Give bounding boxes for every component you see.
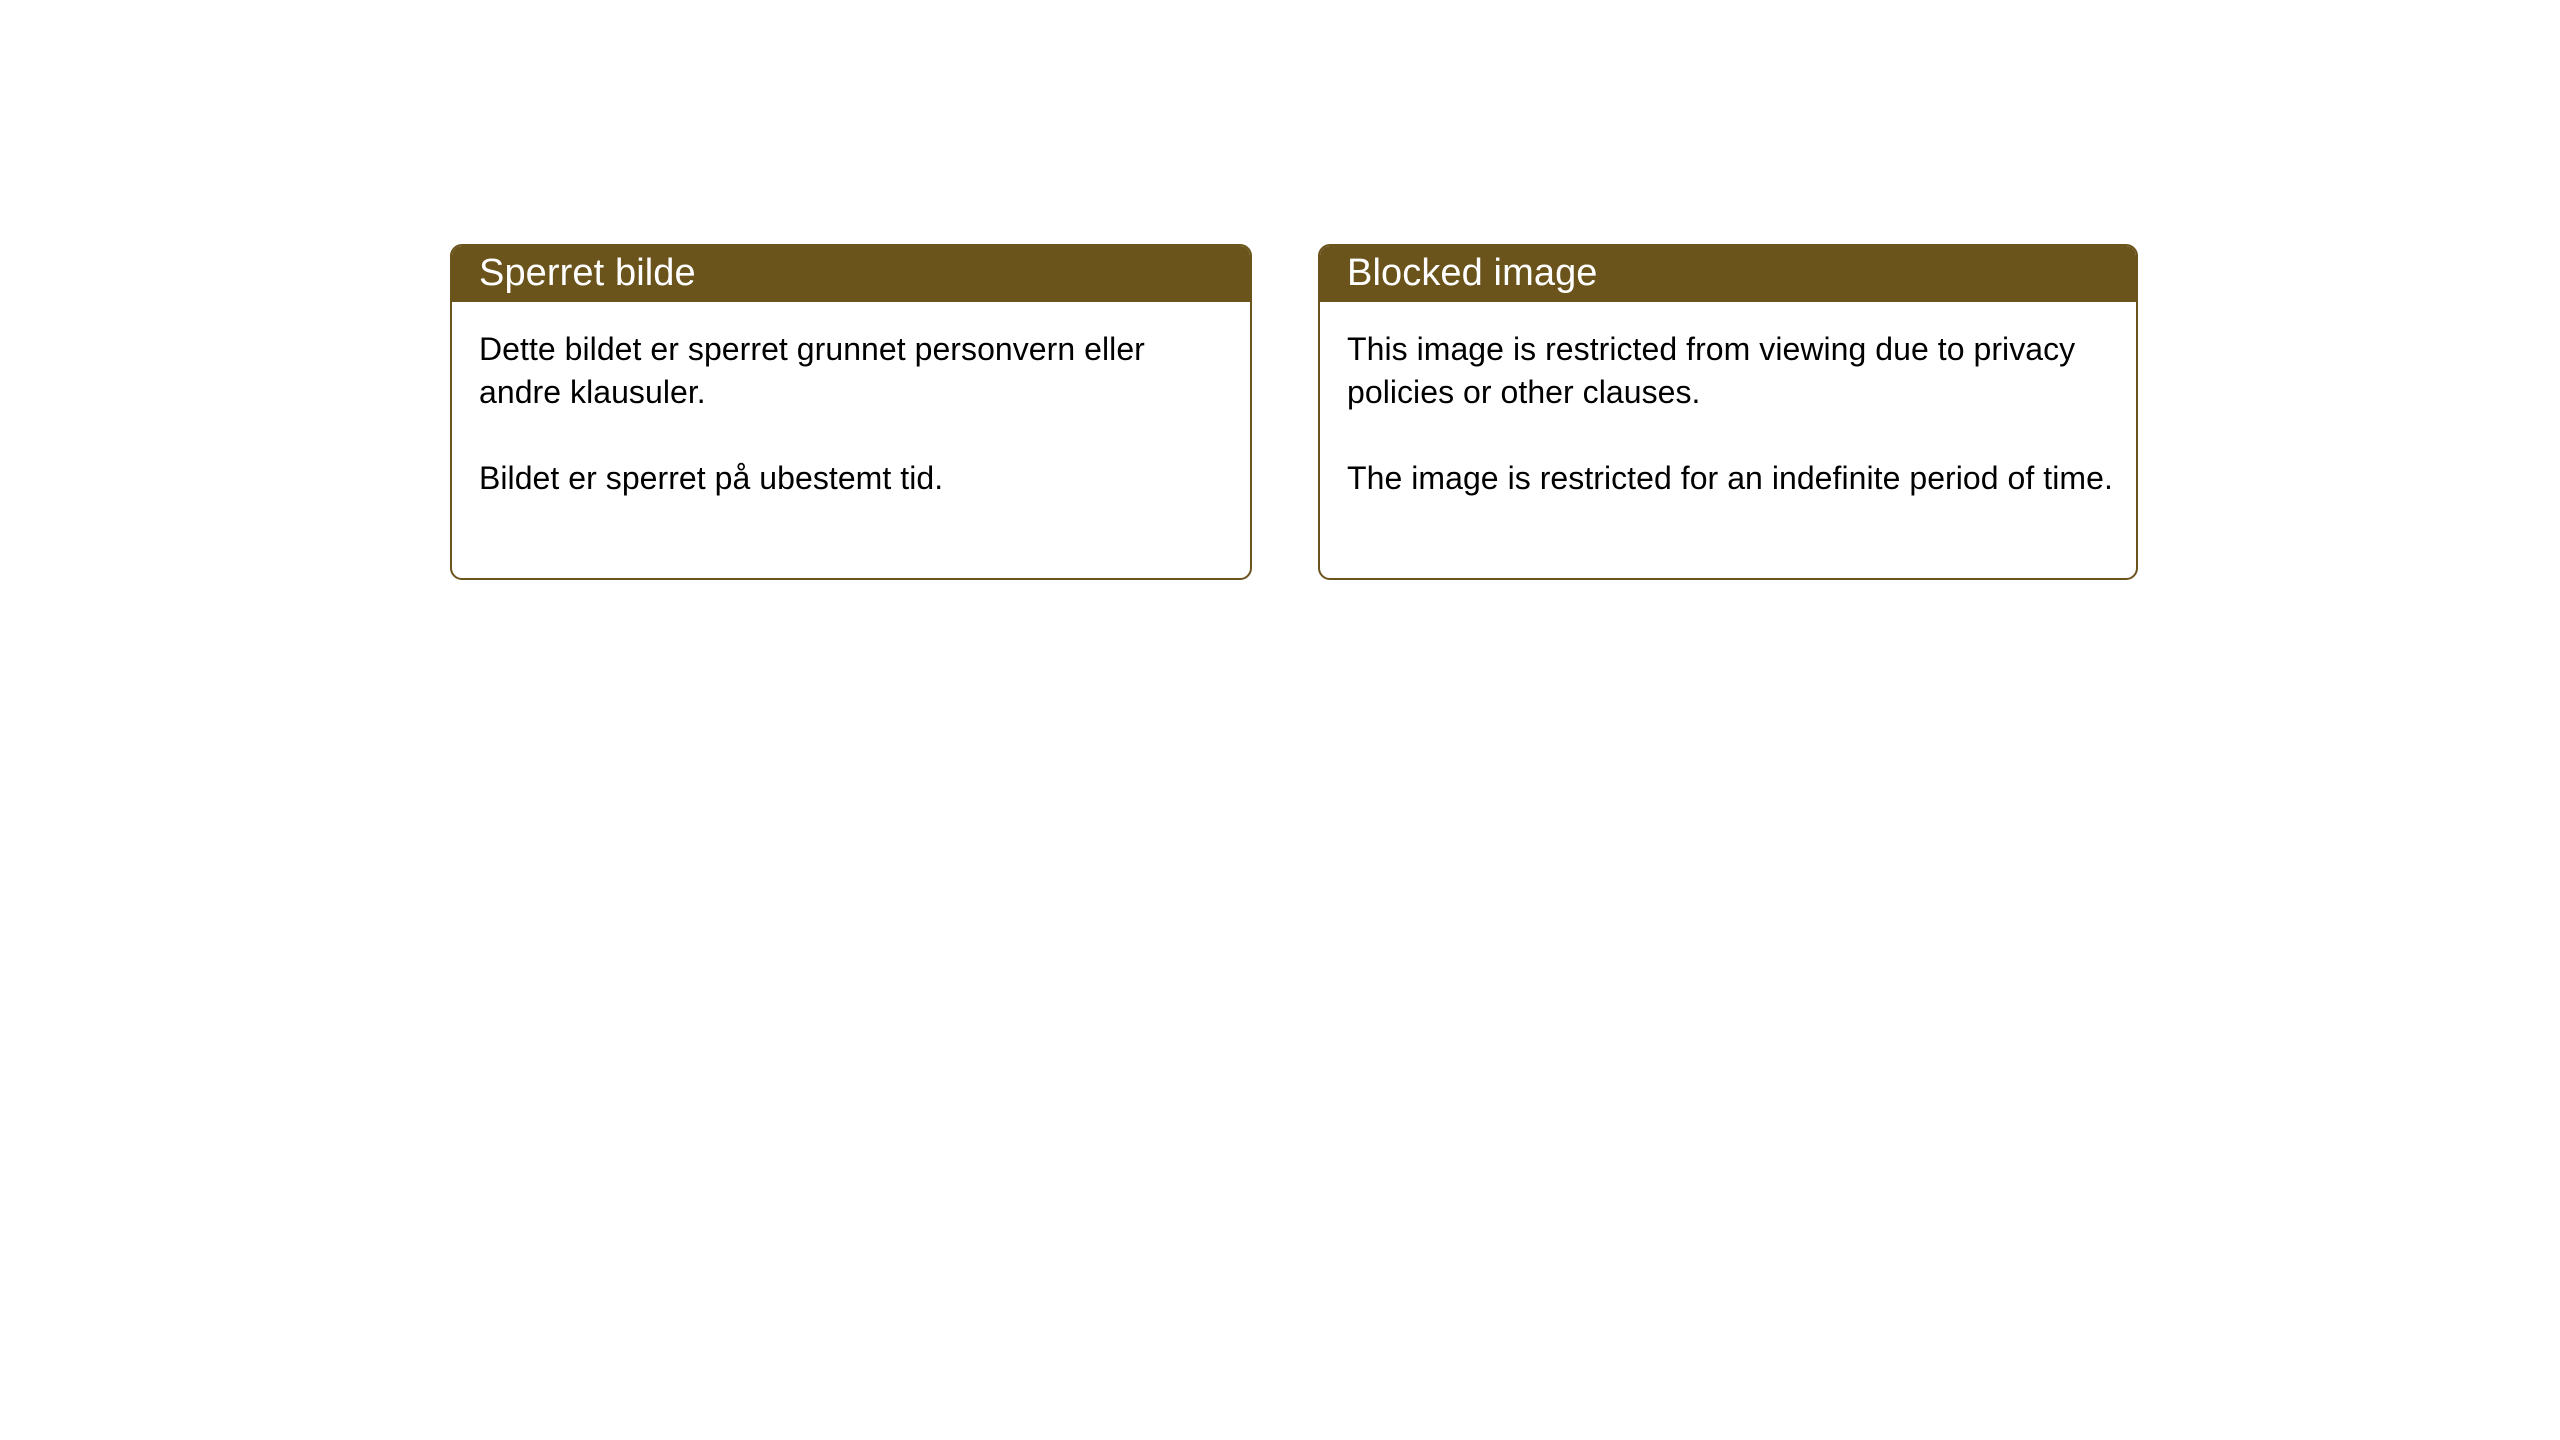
card-paragraph-privacy-english: This image is restricted from viewing du… xyxy=(1347,328,2116,414)
blocked-image-notice-card-english: Blocked image This image is restricted f… xyxy=(1318,244,2138,580)
paragraph-spacer xyxy=(479,414,1230,457)
card-header-english: Blocked image xyxy=(1318,244,2138,302)
card-body-norwegian: Dette bildet er sperret grunnet personve… xyxy=(452,302,1250,500)
card-header-norwegian: Sperret bilde xyxy=(450,244,1252,302)
card-title-english: Blocked image xyxy=(1347,252,1598,294)
blocked-image-notice-card-norwegian: Sperret bilde Dette bildet er sperret gr… xyxy=(450,244,1252,580)
card-paragraph-duration-norwegian: Bildet er sperret på ubestemt tid. xyxy=(479,457,1230,500)
card-paragraph-privacy-norwegian: Dette bildet er sperret grunnet personve… xyxy=(479,328,1230,414)
card-title-norwegian: Sperret bilde xyxy=(479,252,696,294)
card-paragraph-duration-english: The image is restricted for an indefinit… xyxy=(1347,457,2116,500)
card-body-english: This image is restricted from viewing du… xyxy=(1320,302,2136,500)
page-canvas: Sperret bilde Dette bildet er sperret gr… xyxy=(0,0,2560,1440)
paragraph-spacer xyxy=(1347,414,2116,457)
